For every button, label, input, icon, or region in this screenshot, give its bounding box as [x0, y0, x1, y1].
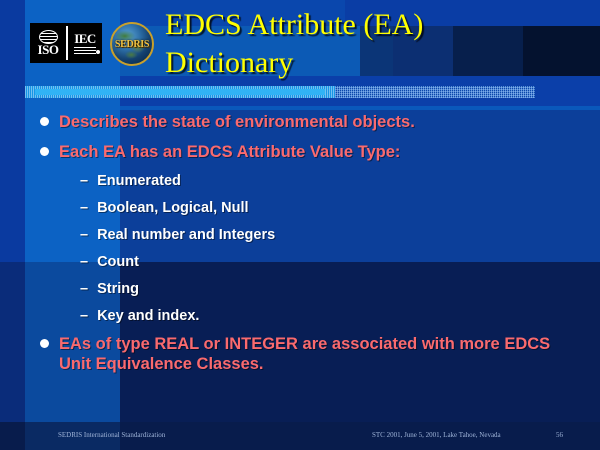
sub-bullet-item: – Key and index.: [80, 307, 585, 325]
slide-content: Describes the state of environmental obj…: [40, 112, 585, 384]
bullet-text-block: EAs of type REAL or INTEGER are associat…: [59, 334, 579, 374]
slide-title-line-1: EDCS Attribute (EA): [165, 6, 585, 44]
sub-bullet-list: – Enumerated – Boolean, Logical, Null – …: [40, 172, 585, 325]
sub-bullet-item: – Enumerated: [80, 172, 585, 190]
bullet-item: EAs of type REAL or INTEGER are associat…: [40, 334, 585, 374]
sub-bullet-item: – Real number and Integers: [80, 226, 585, 244]
sedris-label: SEDRIS: [115, 39, 149, 50]
bullet-dash-icon: –: [80, 226, 88, 244]
sub-bullet-item: – Boolean, Logical, Null: [80, 199, 585, 217]
bullet-dot-icon: [40, 147, 49, 156]
footer-event: STC 2001, June 5, 2001, Lake Tahoe, Neva…: [372, 430, 501, 440]
bullet-text-line-1: EAs of type REAL or INTEGER are associat…: [59, 335, 417, 353]
presentation-slide: ISO IEC SEDRIS EDCS Attribute (EA) Dicti…: [0, 0, 600, 450]
accent-bar-highlight: [35, 89, 325, 95]
iso-iec-logo: ISO IEC: [30, 23, 102, 63]
slide-title: EDCS Attribute (EA) Dictionary: [165, 6, 585, 82]
accent-bar-textured: [335, 86, 535, 98]
footer-organization: SEDRIS International Standardization: [58, 430, 165, 440]
bullet-dash-icon: –: [80, 199, 88, 217]
sub-bullet-text: Boolean, Logical, Null: [97, 199, 248, 217]
slide-footer: SEDRIS International Standardization STC…: [0, 428, 600, 444]
dot-icon: [96, 50, 100, 54]
slide-title-line-2: Dictionary: [165, 44, 585, 82]
sub-bullet-text: String: [97, 280, 139, 298]
sub-bullet-text: Count: [97, 253, 139, 271]
bullet-dash-icon: –: [80, 307, 88, 325]
bullet-item: Describes the state of environmental obj…: [40, 112, 585, 132]
bullet-dot-icon: [40, 117, 49, 126]
stripes-icon: [74, 46, 96, 54]
iec-label: IEC: [74, 32, 96, 45]
iso-label: ISO: [38, 44, 59, 56]
iso-logo-part: ISO: [30, 23, 66, 63]
bullet-dash-icon: –: [80, 253, 88, 271]
sub-bullet-text: Real number and Integers: [97, 226, 275, 244]
bullet-dot-icon: [40, 339, 49, 348]
bullet-dash-icon: –: [80, 172, 88, 190]
iec-logo-part: IEC: [68, 23, 102, 63]
slide-number: 56: [556, 430, 563, 440]
sub-bullet-item: – String: [80, 280, 585, 298]
sedris-logo: SEDRIS: [110, 22, 154, 66]
bullet-text: Describes the state of environmental obj…: [59, 112, 415, 132]
sub-bullet-text: Enumerated: [97, 172, 181, 190]
sub-bullet-text: Key and index.: [97, 307, 199, 325]
bullet-item: Each EA has an EDCS Attribute Value Type…: [40, 142, 585, 162]
sub-bullet-item: – Count: [80, 253, 585, 271]
bullet-text: Each EA has an EDCS Attribute Value Type…: [59, 142, 400, 162]
bullet-dash-icon: –: [80, 280, 88, 298]
